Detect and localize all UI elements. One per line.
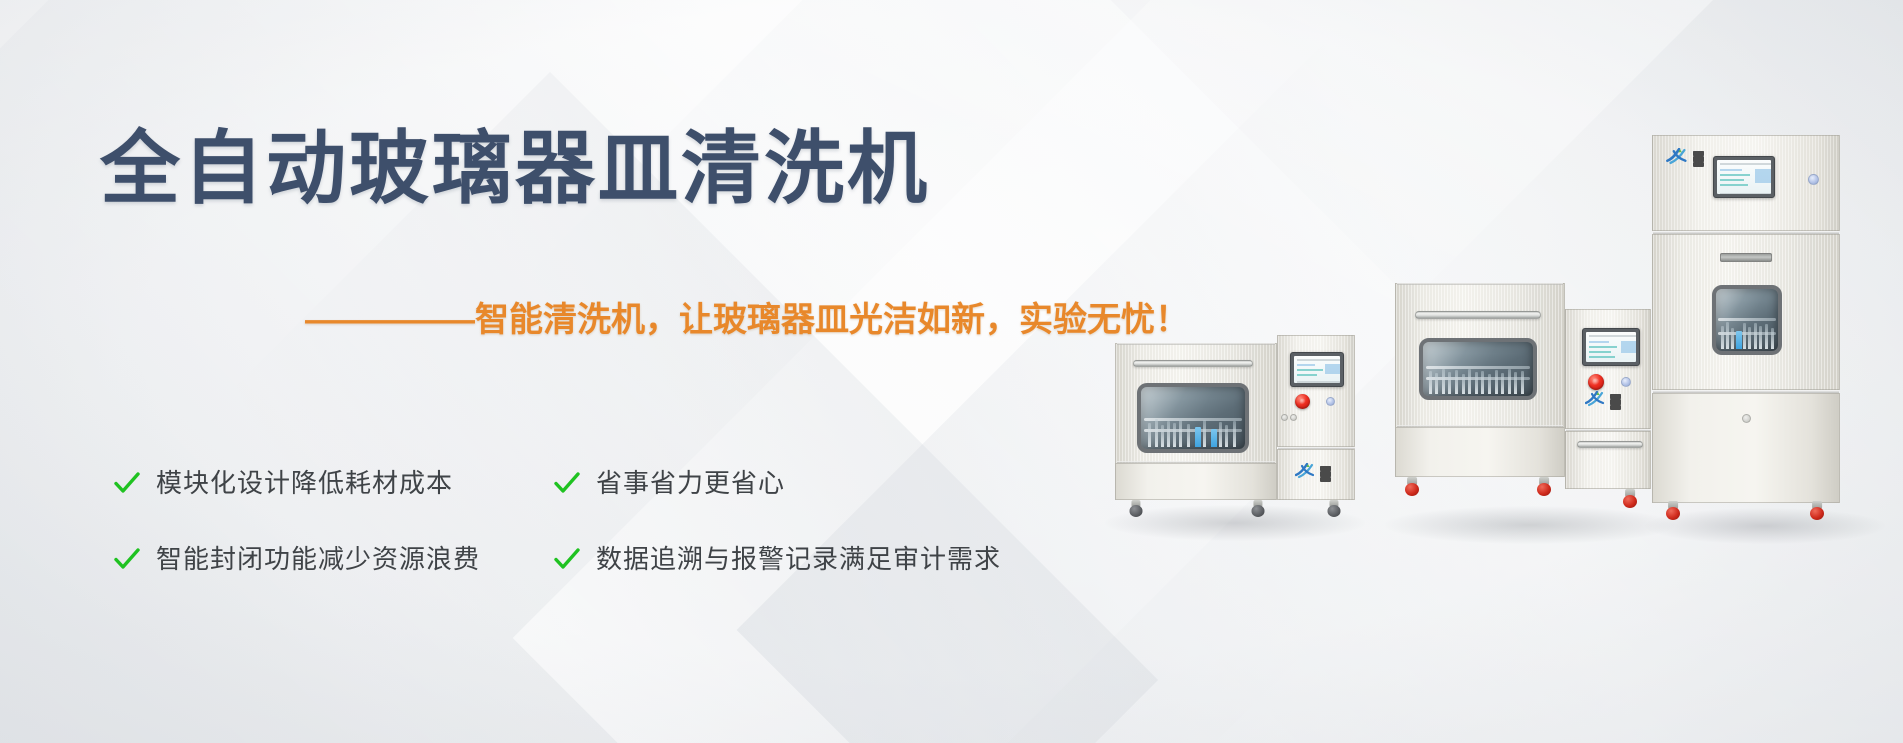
control-panel [1277,335,1355,447]
door-handle [1133,360,1253,367]
product-tall-column-glassware-washer [1652,135,1840,510]
caster-wheel [1405,477,1419,496]
product-shadow [1385,506,1675,544]
brand-wordmark [1320,466,1331,477]
brand-logo [1585,391,1621,407]
caster-wheel [1251,500,1264,517]
recessed-door-handle [1720,253,1772,262]
product-hero-banner: 全自动玻璃器皿清洗机 —————智能清洗机，让玻璃器皿光洁如新，实验无忧！ 模块… [0,0,1903,743]
body-top-seam [1397,283,1563,285]
brand-logo [1295,463,1331,479]
door-handle [1415,311,1541,319]
caster-wheel [1623,489,1637,508]
status-indicator-light[interactable] [1621,377,1631,387]
caster-wheel [1666,501,1680,520]
screen-content [1294,356,1340,383]
port-dot [1290,414,1297,421]
h-swoosh-icon [1666,148,1690,165]
touchscreen-display[interactable] [1713,156,1775,198]
control-lower-panel [1565,431,1651,489]
viewing-window [1419,338,1537,400]
caster-wheel [1129,500,1142,517]
product-shadow [1645,508,1885,544]
product-freestanding-glassware-washer [1395,283,1667,508]
body-top-seam [1117,343,1275,345]
status-indicator-light[interactable] [1808,174,1819,185]
h-swoosh-icon [1585,391,1607,407]
brand-logo [1666,148,1704,165]
window-reflection [1141,387,1245,449]
brand-wordmark [1610,394,1621,405]
window-reflection [1423,342,1533,396]
product-undercounter-glassware-washer [1115,335,1355,507]
touchscreen-display[interactable] [1290,352,1344,387]
h-swoosh-icon [1295,463,1317,479]
control-panel [1565,309,1651,429]
screen-content [1586,332,1636,362]
brand-wordmark [1693,151,1704,162]
caster-wheel [1810,501,1824,520]
screen-content [1717,160,1771,194]
product-images [0,0,1903,743]
emergency-stop-button[interactable] [1588,374,1604,390]
caster-wheel [1537,477,1551,496]
window-reflection [1716,289,1778,351]
product-shadow [1105,505,1365,541]
lower-door [1115,463,1277,500]
caster-wheel [1327,500,1340,517]
viewing-window [1137,383,1249,453]
viewing-window [1712,285,1782,355]
emergency-stop-button[interactable] [1295,394,1310,409]
lower-door-handle [1577,441,1643,448]
lower-door [1652,393,1840,503]
port-dot [1281,414,1288,421]
lower-door [1395,427,1565,477]
door-latch[interactable] [1742,414,1751,423]
touchscreen-display[interactable] [1582,328,1640,366]
status-indicator-light[interactable] [1326,397,1335,406]
